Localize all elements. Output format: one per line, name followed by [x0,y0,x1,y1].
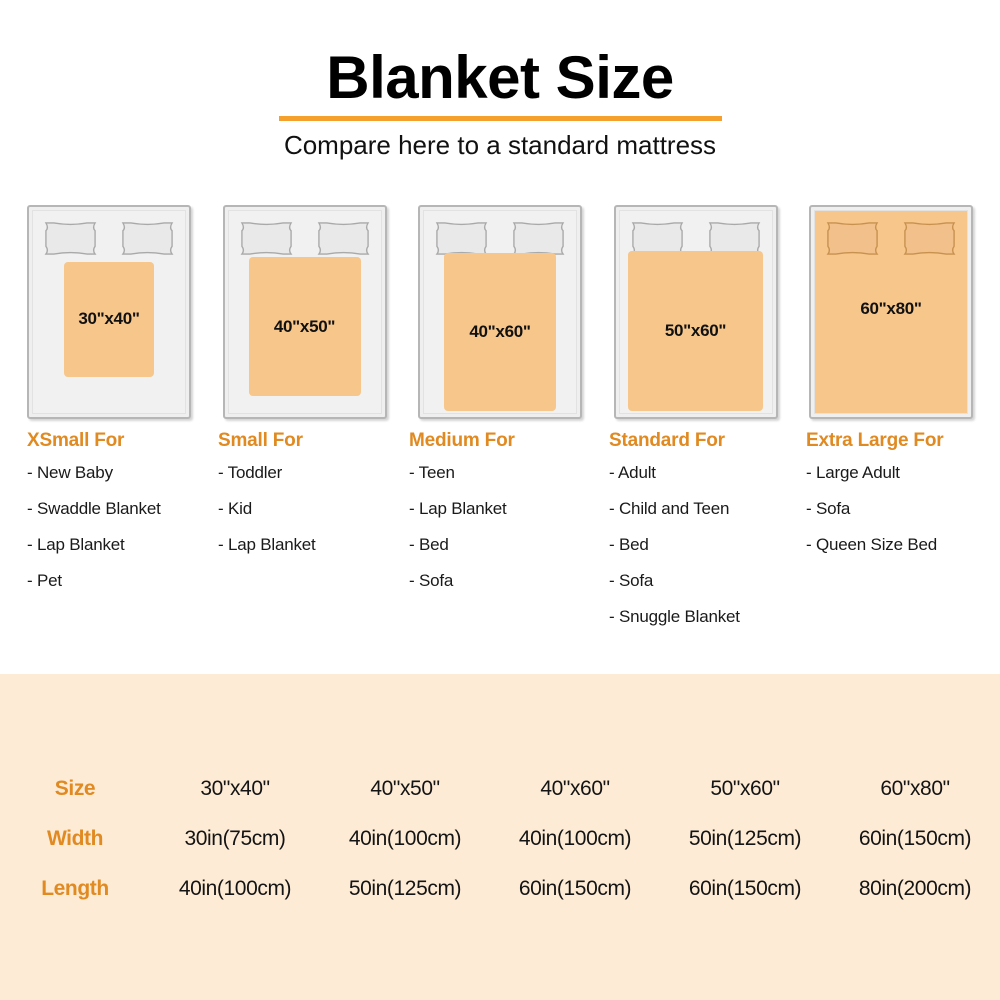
category-list-item: - Bed [609,535,809,555]
table-row-header: Length [0,864,150,914]
mattress: 40"x60" [418,205,582,419]
table-cell: 60in(150cm) [490,864,660,914]
table-row-header: Width [0,814,150,864]
table-cell: 40"x50" [320,764,490,814]
category-list-item: - Toddler [218,463,418,483]
category-list-item: - Sofa [409,571,609,591]
blanket-size-label: 50"x60" [665,321,726,341]
table-cell: 40"x60" [490,764,660,814]
category-list-item: - Swaddle Blanket [27,499,227,519]
blanket-size-label: 60"x80" [811,299,971,319]
table-cell: 80in(200cm) [830,864,1000,914]
mattress: 30"x40" [27,205,191,419]
category-title: Extra Large For [806,430,1000,452]
category-list-item: - Bed [409,535,609,555]
title-underline-rule [279,116,722,121]
size-table: Size30"x40"40"x50"40"x60"50"x60"60"x80"W… [0,764,1000,914]
table-cell: 40in(100cm) [320,814,490,864]
pillow-right-icon [314,220,373,257]
mattress: 40"x50" [223,205,387,419]
table-cell: 40in(100cm) [150,864,320,914]
category-list-item: - New Baby [27,463,227,483]
category-list-item: - Queen Size Bed [806,535,1000,555]
table-row: Length40in(100cm)50in(125cm)60in(150cm)6… [0,864,1000,914]
bed-diagram-5: 60"x80" [809,205,973,419]
pillow-left-icon [432,220,491,257]
table-cell: 30in(75cm) [150,814,320,864]
pillow-right-icon [118,220,177,257]
category-list-item: - Snuggle Blanket [609,607,809,627]
table-cell: 40in(100cm) [490,814,660,864]
mattress: 60"x80" [809,205,973,419]
bed-diagram-4: 50"x60" [614,205,778,419]
bed-diagram-row: 30"x40"40"x50"40"x60"50"x60"60"x80" [27,205,973,419]
pillow-right-icon [509,220,568,257]
category-list-item: - Adult [609,463,809,483]
blanket-size-label: 30"x40" [78,309,139,329]
page-header: Blanket Size Compare here to a standard … [0,0,1000,175]
pillow-left-icon [41,220,100,257]
pillow-right-icon [900,220,959,257]
category-columns: XSmall For- New Baby- Swaddle Blanket- L… [27,430,987,650]
category-column-3: Medium For- Teen- Lap Blanket- Bed- Sofa [409,430,609,607]
mattress: 50"x60" [614,205,778,419]
category-title: Standard For [609,430,809,452]
category-list-item: - Large Adult [806,463,1000,483]
category-list-item: - Teen [409,463,609,483]
table-cell: 50in(125cm) [660,814,830,864]
size-table-band: Size30"x40"40"x50"40"x60"50"x60"60"x80"W… [0,674,1000,1000]
blanket-overlay: 40"x50" [249,257,361,396]
category-column-1: XSmall For- New Baby- Swaddle Blanket- L… [27,430,227,607]
blanket-overlay: 50"x60" [628,251,762,411]
category-list-item: - Lap Blanket [218,535,418,555]
blanket-size-label: 40"x60" [469,322,530,342]
table-cell: 50"x60" [660,764,830,814]
blanket-size-label: 40"x50" [274,317,335,337]
category-title: XSmall For [27,430,227,452]
category-title: Small For [218,430,418,452]
blanket-overlay: 40"x60" [444,253,556,411]
category-column-5: Extra Large For- Large Adult- Sofa- Quee… [806,430,1000,571]
category-list-item: - Lap Blanket [409,499,609,519]
page-subtitle: Compare here to a standard mattress [0,130,1000,161]
category-title: Medium For [409,430,609,452]
category-column-4: Standard For- Adult- Child and Teen- Bed… [609,430,809,643]
category-list-item: - Kid [218,499,418,519]
table-cell: 50in(125cm) [320,864,490,914]
bed-diagram-3: 40"x60" [418,205,582,419]
category-list-item: - Lap Blanket [27,535,227,555]
blanket-overlay: 30"x40" [64,262,154,378]
page-title: Blanket Size [0,0,1000,108]
table-cell: 60"x80" [830,764,1000,814]
category-list-item: - Child and Teen [609,499,809,519]
table-cell: 30"x40" [150,764,320,814]
pillow-left-icon [823,220,882,257]
table-cell: 60in(150cm) [830,814,1000,864]
table-row: Width30in(75cm)40in(100cm)40in(100cm)50i… [0,814,1000,864]
category-list-item: - Sofa [806,499,1000,519]
category-list-item: - Sofa [609,571,809,591]
bed-diagram-2: 40"x50" [223,205,387,419]
pillow-left-icon [237,220,296,257]
category-column-2: Small For- Toddler- Kid- Lap Blanket [218,430,418,571]
category-list-item: - Pet [27,571,227,591]
table-cell: 60in(150cm) [660,864,830,914]
table-row-header: Size [0,764,150,814]
table-row: Size30"x40"40"x50"40"x60"50"x60"60"x80" [0,764,1000,814]
bed-diagram-1: 30"x40" [27,205,191,419]
